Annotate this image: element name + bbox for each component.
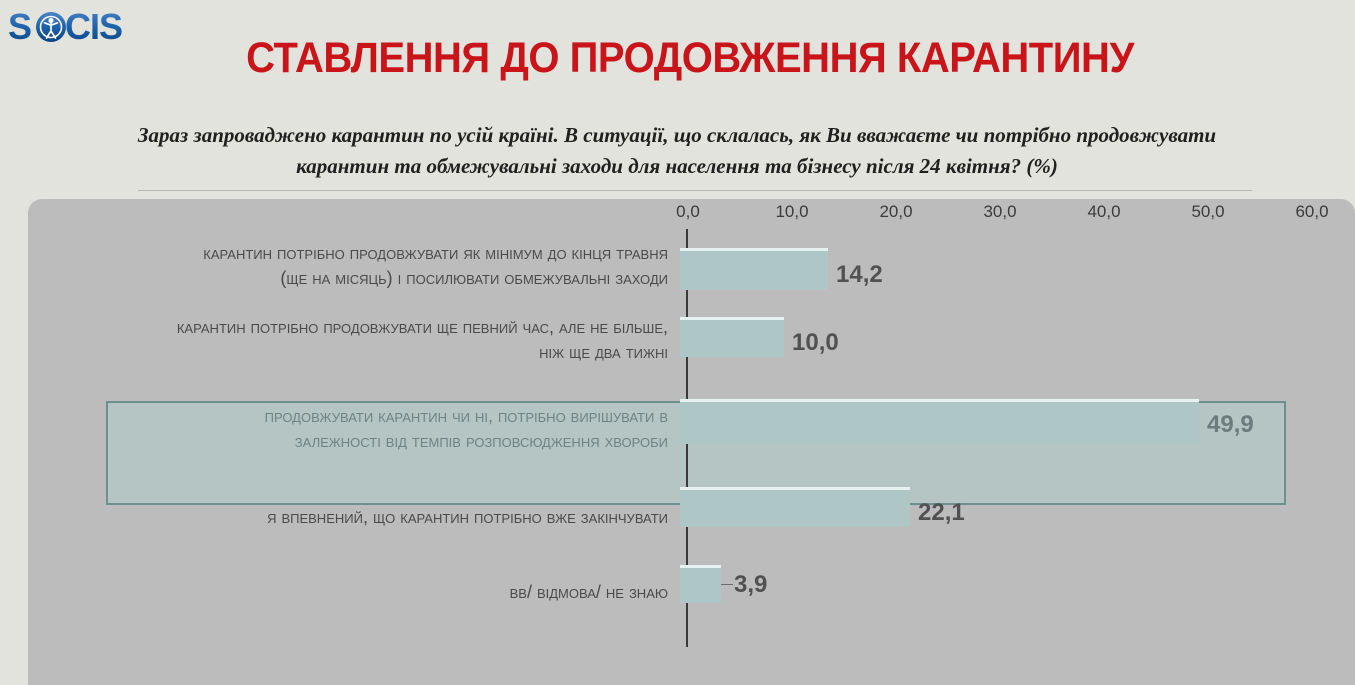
bar-plot-cell: 10,0 <box>678 303 1355 377</box>
category-label: ВВ/ ВІДМОВА/ НЕ ЗНАЮ <box>28 580 678 605</box>
bar <box>680 248 828 290</box>
category-label-line-1: Продовжувати карантин чи ні, потрібно ви… <box>28 404 668 429</box>
bar-value-label: 10,0 <box>792 329 839 357</box>
category-label: Карантин потрібно продовжувати як мініму… <box>28 241 678 291</box>
table-row: Я впевнений, що карантин потрібно вже за… <box>28 481 1355 553</box>
header-divider <box>138 190 1252 191</box>
chart-rows: Карантин потрібно продовжувати як мініму… <box>28 229 1355 631</box>
category-label-line-2: ніж ще два тижні <box>28 340 668 365</box>
category-label-line-2: (ще на місяць) і посилювати обмежувальні… <box>28 266 668 291</box>
bar <box>680 487 910 527</box>
x-tick-0: 0,0 <box>676 202 700 222</box>
socis-logo: S CIS <box>8 6 158 50</box>
svg-text:CIS: CIS <box>65 6 122 47</box>
page-title: СТАВЛЕННЯ ДО ПРОДОВЖЕННЯ КАРАНТИНУ <box>197 34 1183 82</box>
bar-plot-cell: 22,1 <box>678 481 1355 553</box>
bar <box>680 399 1199 444</box>
table-row: Карантин потрібно продовжувати ще певний… <box>28 303 1355 377</box>
question-line-1: Зараз запроваджено карантин по усій краї… <box>52 120 1302 151</box>
bar-value-label: 14,2 <box>836 261 883 289</box>
x-tick-30: 30,0 <box>983 202 1016 222</box>
category-label-line-1: Я впевнений, що карантин потрібно вже за… <box>28 505 668 530</box>
table-row: ВВ/ ВІДМОВА/ НЕ ЗНАЮ 3,9 <box>28 553 1355 631</box>
category-label-line-2: залежності від темпів розповсюдження хво… <box>28 429 668 454</box>
category-label-line-1: ВВ/ ВІДМОВА/ НЕ ЗНАЮ <box>28 580 668 605</box>
x-tick-60: 60,0 <box>1295 202 1328 222</box>
x-tick-50: 50,0 <box>1191 202 1224 222</box>
vitruvian-figure-icon <box>36 12 66 42</box>
bar-plot-cell: 14,2 <box>678 229 1355 303</box>
table-row: Карантин потрібно продовжувати як мініму… <box>28 229 1355 303</box>
bar <box>680 565 721 603</box>
category-label-line-1: Карантин потрібно продовжувати ще певний… <box>28 315 668 340</box>
table-row: Продовжувати карантин чи ні, потрібно ви… <box>28 377 1355 481</box>
bar-plot-cell: 3,9 <box>678 553 1355 631</box>
survey-question: Зараз запроваджено карантин по усій краї… <box>52 120 1302 182</box>
x-tick-40: 40,0 <box>1087 202 1120 222</box>
bar-value-label: 22,1 <box>918 499 965 527</box>
svg-text:S: S <box>8 6 31 47</box>
question-line-2: карантин та обмежувальні заходи для насе… <box>52 151 1302 182</box>
bar-value-label: 3,9 <box>734 571 767 599</box>
bar <box>680 317 784 357</box>
category-label: Я впевнений, що карантин потрібно вже за… <box>28 505 678 530</box>
chart-panel: 0,0 10,0 20,0 30,0 40,0 50,0 60,0 Карант… <box>28 199 1355 685</box>
bar-value-label: 49,9 <box>1207 411 1254 439</box>
value-leader-line <box>721 584 733 585</box>
bar-plot-cell: 49,9 <box>678 377 1355 481</box>
x-axis-tick-labels: 0,0 10,0 20,0 30,0 40,0 50,0 60,0 <box>28 202 1355 226</box>
category-label: Карантин потрібно продовжувати ще певний… <box>28 315 678 365</box>
category-label-line-1: Карантин потрібно продовжувати як мініму… <box>28 241 668 266</box>
x-tick-10: 10,0 <box>775 202 808 222</box>
x-tick-20: 20,0 <box>879 202 912 222</box>
category-label: Продовжувати карантин чи ні, потрібно ви… <box>28 404 678 454</box>
